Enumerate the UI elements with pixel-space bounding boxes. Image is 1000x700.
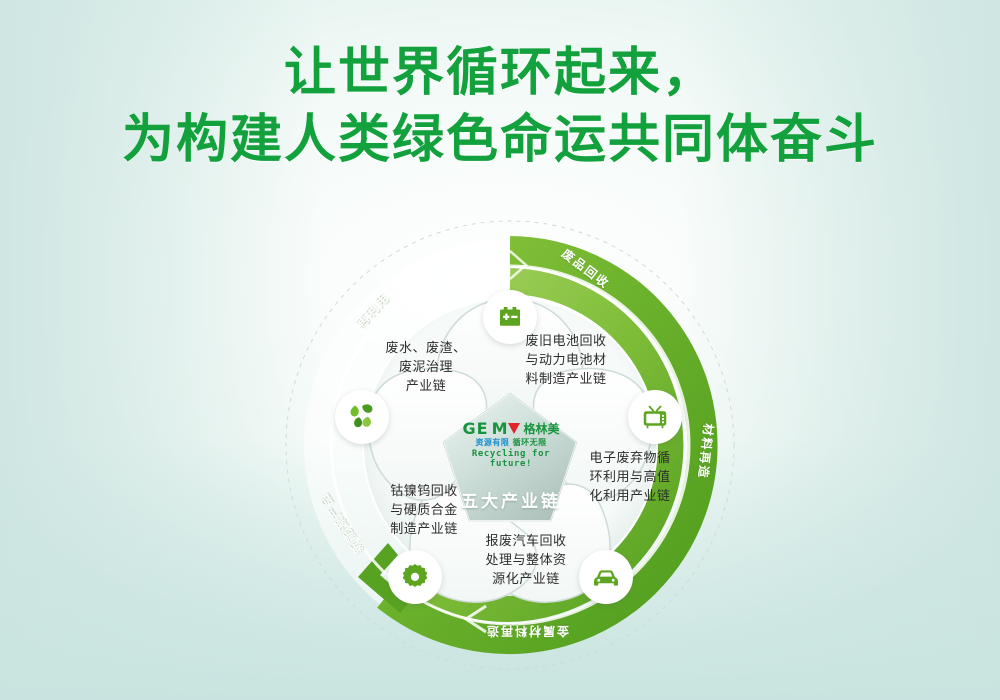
- segment-text-line: 与动力电池材: [508, 352, 624, 371]
- icon-bubble-car[interactable]: [579, 550, 633, 604]
- segment-text-waste: 废水、废渣、 废泥治理 产业链: [374, 340, 478, 397]
- title-line-1: 让世界循环起来，: [0, 40, 1000, 107]
- segment-text-line: 制造产业链: [372, 521, 476, 540]
- title-line-2: 为构建人类绿色命运共同体奋斗: [0, 107, 1000, 174]
- center-subtitle: 五大产业链: [455, 487, 567, 512]
- logo-slogan-part1: 资源有限: [475, 438, 509, 447]
- segment-text-line: 料制造产业链: [508, 371, 624, 390]
- ring-label-metal-remake: 金属材料再造: [485, 623, 569, 640]
- recycle-drop-icon: [346, 401, 378, 433]
- logo-gem-text: GE: [463, 419, 489, 438]
- center-logo-block: GE M 格林美 资源有限 循环无限 Recycling for future!…: [455, 421, 567, 512]
- logo-wordmark: GE M 格林美: [455, 421, 567, 436]
- segment-text-line: 环利用与高值: [582, 469, 678, 488]
- segment-text-line: 报废汽车回收: [470, 533, 582, 552]
- tv-icon: [640, 402, 670, 432]
- segment-text-line: 废水、废渣、: [374, 340, 478, 359]
- battery-icon: [495, 302, 525, 332]
- segment-text-line: 产业链: [374, 378, 478, 397]
- car-icon: [590, 561, 622, 593]
- page-title: 让世界循环起来， 为构建人类绿色命运共同体奋斗: [0, 40, 1000, 173]
- segment-text-line: 废泥治理: [374, 359, 478, 378]
- segment-text-car: 报废汽车回收 处理与整体资 源化产业链: [470, 533, 582, 590]
- segment-text-ewaste: 电子废弃物循 环利用与高值 化利用产业链: [582, 450, 678, 507]
- logo-slogan-en: Recycling for future!: [455, 449, 567, 469]
- logo-chinese-name: 格林美: [523, 420, 559, 437]
- segment-text-line: 处理与整体资: [470, 552, 582, 571]
- logo-slogan-part2: 循环无限: [513, 438, 547, 447]
- segment-text-line: 电子废弃物循: [582, 450, 678, 469]
- logo-m-text: M: [492, 419, 509, 438]
- icon-bubble-gear[interactable]: [388, 550, 442, 604]
- segment-text-line: 废旧电池回收: [508, 333, 624, 352]
- icon-bubble-tv[interactable]: [628, 390, 682, 444]
- logo-slogan-cn: 资源有限 循环无限: [455, 437, 567, 448]
- segment-text-line: 化利用产业链: [582, 488, 678, 507]
- segment-text-battery: 废旧电池回收 与动力电池材 料制造产业链: [508, 333, 624, 390]
- industry-chain-diagram: 再利用 废品回收 材料再造 金属材料再造 新能源产品: [280, 215, 740, 675]
- icon-bubble-recycle-drop[interactable]: [335, 390, 389, 444]
- logo-triangle-icon: [508, 423, 520, 434]
- gear-icon: [400, 562, 430, 592]
- segment-text-line: 源化产业链: [470, 571, 582, 590]
